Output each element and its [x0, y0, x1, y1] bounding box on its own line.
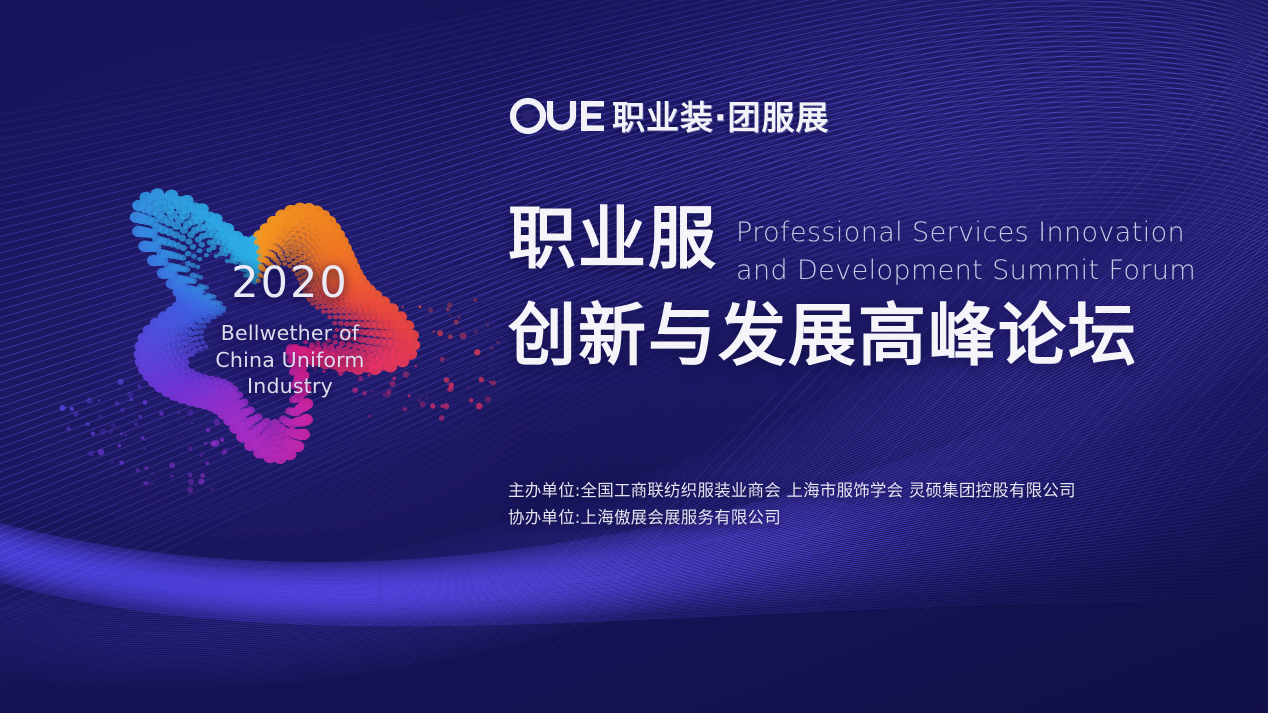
- host-organizer-line: 主办单位:全国工商联纺织服装业商会 上海市服饰学会 灵硕集团控股有限公司: [508, 478, 1208, 505]
- headline-en: Professional Services Innovation and Dev…: [736, 206, 1196, 291]
- headline-block: 职业服 Professional Services Innovation and…: [508, 206, 1208, 371]
- poster-canvas: 2020 Bellwether of China Uniform Industr…: [0, 0, 1268, 713]
- headline-cn-line1: 职业服: [508, 206, 718, 273]
- organizers-block: 主办单位:全国工商联纺织服装业商会 上海市服饰学会 灵硕集团控股有限公司 协办单…: [508, 478, 1208, 531]
- oue-wordmark-icon: [508, 96, 605, 136]
- brand-wordmark-cn: 职业装·团服展: [612, 101, 830, 134]
- content-column: 职业装·团服展 职业服 Professional Services Innova…: [508, 0, 1208, 713]
- brand-lockup: 职业装·团服展: [508, 96, 830, 136]
- halftone-emblem: 2020 Bellwether of China Uniform Industr…: [60, 112, 460, 512]
- headline-cn-line2: 创新与发展高峰论坛: [508, 302, 1208, 371]
- co-organizer-line: 协办单位:上海傲展会展服务有限公司: [508, 505, 1208, 532]
